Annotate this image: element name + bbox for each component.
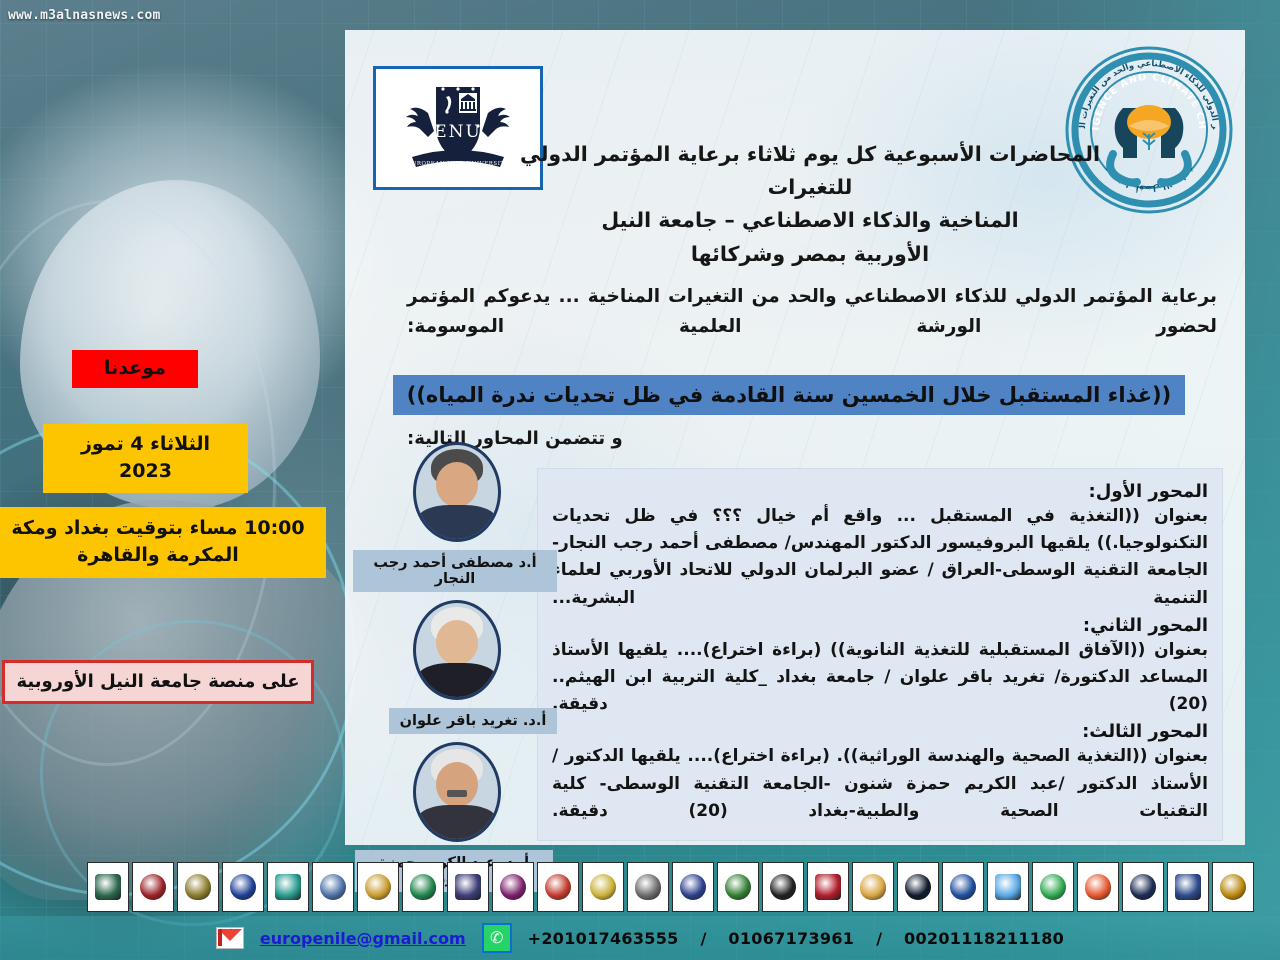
partner-logo-21-mark	[320, 874, 346, 900]
partner-logo-24	[177, 862, 219, 912]
svg-text:EUROPEAN NILE UNIVERSITY: EUROPEAN NILE UNIVERSITY	[407, 161, 509, 167]
schedule-time-badge: 10:00 مساء بتوقيت بغداد ومكة المكرمة وال…	[0, 507, 326, 578]
partner-logo-21	[312, 862, 354, 912]
site-watermark: www.m3alnasnews.com	[8, 8, 161, 23]
header-title: المحاضرات الأسبوعية كل يوم ثلاثاء برعاية…	[515, 138, 1105, 271]
partner-logo-17-mark	[500, 874, 526, 900]
partner-logo-2	[1167, 862, 1209, 912]
partner-logo-20	[357, 862, 399, 912]
partner-logo-13	[672, 862, 714, 912]
partner-logo-8	[897, 862, 939, 912]
partner-logo-5	[1032, 862, 1074, 912]
axis-3-body: بعنوان ((التغذية الصحية والهندسة الوراثي…	[552, 743, 1208, 825]
partner-logo-19	[402, 862, 444, 912]
poster-root: www.m3alnasnews.com موعدنا الثلاثاء 4 تم…	[0, 0, 1280, 960]
partner-logo-25-mark	[140, 874, 166, 900]
speaker-photo-3	[413, 742, 501, 842]
schedule-label-badge: موعدنا	[72, 350, 198, 388]
svg-text:ENU: ENU	[434, 122, 482, 142]
speaker-1-name: أ.د مصطفى أحمد رجب النجار	[353, 550, 557, 592]
partner-logo-10	[807, 862, 849, 912]
contact-bar: europenile@gmail.com ✆ +201017463555 / 0…	[0, 916, 1280, 960]
phone-separator-1: /	[695, 929, 713, 948]
partner-logo-11	[762, 862, 804, 912]
speaker-photo-1	[413, 442, 501, 542]
partner-logo-17	[492, 862, 534, 912]
schedule-column: موعدنا الثلاثاء 4 تموز 2023 10:00 مساء ب…	[0, 350, 330, 704]
partner-logo-25	[132, 862, 174, 912]
speaker-1: أ.د مصطفى أحمد رجب النجار	[357, 442, 557, 592]
partner-logo-20-mark	[365, 874, 391, 900]
partner-logos-strip	[0, 858, 1280, 916]
phone-number-3: 00201118211180	[904, 929, 1064, 948]
schedule-platform-badge: على منصة جامعة النيل الأوروبية	[2, 660, 314, 704]
speaker-face-2	[416, 603, 498, 697]
partner-logo-22	[267, 862, 309, 912]
partner-logo-12	[717, 862, 759, 912]
content-panel: ENU EUROPEAN NILE UNIVERSITY NATIONAL IN…	[345, 30, 1245, 845]
partner-logo-2-mark	[1175, 874, 1201, 900]
partner-logo-23-mark	[230, 874, 256, 900]
partner-logo-16	[537, 862, 579, 912]
partner-logo-14-mark	[635, 874, 661, 900]
workshop-title-bar: ((غذاء المستقبل خلال الخمسين سنة القادمة…	[393, 375, 1185, 415]
partner-logo-10-mark	[815, 874, 841, 900]
partner-logo-24-mark	[185, 874, 211, 900]
axis-2-heading: المحور الثاني:	[552, 615, 1208, 636]
partner-logo-15	[582, 862, 624, 912]
header-line-2: المناخية والذكاء الاصطناعي – جامعة النيل	[515, 204, 1105, 237]
partner-logo-13-mark	[680, 874, 706, 900]
partner-logo-18	[447, 862, 489, 912]
schedule-date-badge: الثلاثاء 4 تموز 2023	[43, 424, 248, 493]
partner-logo-9	[852, 862, 894, 912]
partner-logo-16-mark	[545, 874, 571, 900]
header-intro: برعاية المؤتمر الدولي للذكاء الاصطناعي و…	[407, 282, 1217, 342]
axes-box: المحور الأول: بعنوان ((التغذية في المستق…	[537, 468, 1223, 841]
partner-logo-6-mark	[995, 874, 1021, 900]
partner-logo-4	[1077, 862, 1119, 912]
axis-2-body: بعنوان ((الآفاق المستقبلية للتغذية النان…	[552, 637, 1208, 719]
partner-logo-19-mark	[410, 874, 436, 900]
partner-logo-7-mark	[950, 874, 976, 900]
phone-number-2: 01067173961	[728, 929, 854, 948]
speaker-face-3	[416, 745, 498, 839]
partner-logo-15-mark	[590, 874, 616, 900]
partner-logo-1-mark	[1220, 874, 1246, 900]
axis-1-heading: المحور الأول:	[552, 481, 1208, 502]
partner-logo-14	[627, 862, 669, 912]
phone-separator-2: /	[870, 929, 888, 948]
speaker-2-name: أ.د. تغريد باقر علوان	[389, 708, 557, 734]
partner-logo-3	[1122, 862, 1164, 912]
speaker-2: أ.د. تغريد باقر علوان	[357, 600, 557, 734]
phone-number-1: +201017463555	[528, 929, 679, 948]
speaker-photo-2	[413, 600, 501, 700]
header-line-1: المحاضرات الأسبوعية كل يوم ثلاثاء برعاية…	[515, 138, 1105, 204]
partner-logo-18-mark	[455, 874, 481, 900]
partner-logo-8-mark	[905, 874, 931, 900]
axis-1-body: بعنوان ((التغذية في المستقبل ... واقع أم…	[552, 503, 1208, 612]
whatsapp-icon: ✆	[482, 923, 512, 953]
header-line-3: الأوربية بمصر وشركائها	[515, 238, 1105, 271]
partner-logo-6	[987, 862, 1029, 912]
partner-logo-9-mark	[860, 874, 886, 900]
axis-3-heading: المحور الثالث:	[552, 721, 1208, 742]
partner-logo-23	[222, 862, 264, 912]
partner-logo-22-mark	[275, 874, 301, 900]
speaker-face-1	[416, 445, 498, 539]
partner-logo-5-mark	[1040, 874, 1066, 900]
partner-logo-26	[87, 862, 129, 912]
speakers-column: أ.د مصطفى أحمد رجب النجار أ.د. تغريد باق…	[357, 442, 557, 900]
workshop-title: ((غذاء المستقبل خلال الخمسين سنة القادمة…	[407, 383, 1172, 407]
partner-logo-4-mark	[1085, 874, 1111, 900]
partner-logo-11-mark	[770, 874, 796, 900]
partner-logo-7	[942, 862, 984, 912]
partner-logo-12-mark	[725, 874, 751, 900]
partner-logo-26-mark	[95, 874, 121, 900]
partner-logo-1	[1212, 862, 1254, 912]
gmail-icon	[216, 927, 244, 949]
email-link[interactable]: europenile@gmail.com	[260, 929, 466, 948]
partner-logo-3-mark	[1130, 874, 1156, 900]
